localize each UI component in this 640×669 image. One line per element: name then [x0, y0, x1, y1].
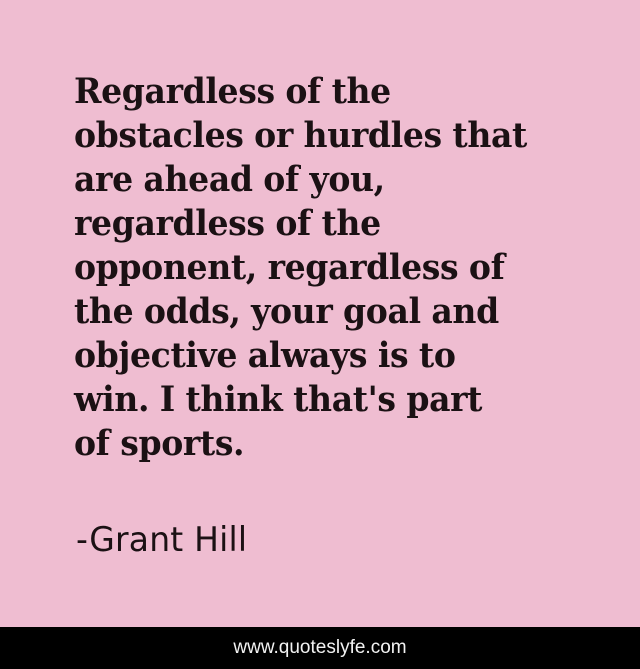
quote-attribution: -Grant Hill — [76, 520, 247, 560]
quote-body: Regardless of the obstacles or hurdles t… — [74, 70, 584, 466]
quote-text: Regardless of the obstacles or hurdles t… — [74, 70, 556, 466]
quote-card: Regardless of the obstacles or hurdles t… — [0, 0, 640, 669]
footer-bar: www.quoteslyfe.com — [0, 627, 640, 669]
footer-website-url: www.quoteslyfe.com — [233, 637, 406, 659]
